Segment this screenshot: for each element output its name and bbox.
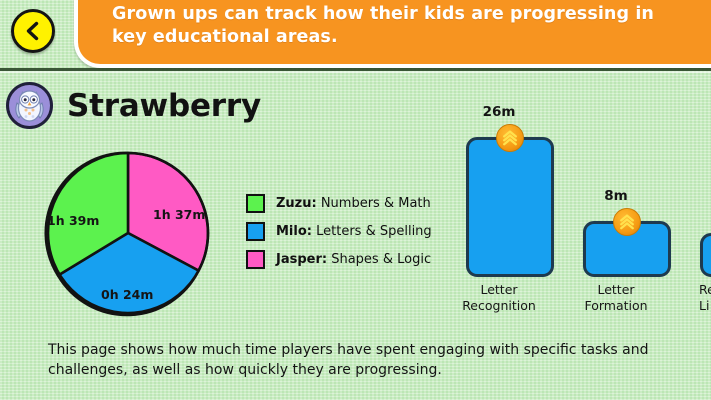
legend-label-milo: Milo: Letters & Spelling xyxy=(276,224,432,239)
bar-caption-line1-letter-recognition: Letter xyxy=(455,282,543,298)
footer-description: This page shows how much time players ha… xyxy=(48,340,668,381)
task-time-bar-chart: 26m Letter Recognition 8m xyxy=(455,100,711,330)
legend-topic-milo: Letters & Spelling xyxy=(312,224,432,239)
legend-topic-jasper: Shapes & Logic xyxy=(327,252,431,267)
legend-label-zuzu: Zuzu: Numbers & Math xyxy=(276,196,431,211)
header-divider-highlight xyxy=(0,71,711,73)
back-button[interactable] xyxy=(11,9,55,53)
legend-who-zuzu: Zuzu: xyxy=(276,196,317,211)
bar-caption-letter-formation: Letter Formation xyxy=(572,282,660,314)
pie-label-milo: 0h 24m xyxy=(101,287,153,302)
bar-caption-line2-letter-formation: Formation xyxy=(572,298,660,314)
legend-item-milo[interactable]: Milo: Letters & Spelling xyxy=(246,218,446,244)
header-banner: Grown ups can track how their kids are p… xyxy=(74,0,711,68)
bar-caption-line1-letter-formation: Letter xyxy=(572,282,660,298)
legend-item-zuzu[interactable]: Zuzu: Numbers & Math xyxy=(246,190,446,216)
legend-who-jasper: Jasper: xyxy=(276,252,327,267)
pie-label-zuzu: 1h 39m xyxy=(47,213,99,228)
header-banner-text: Grown ups can track how their kids are p… xyxy=(112,3,692,49)
legend-topic-zuzu: Numbers & Math xyxy=(317,196,431,211)
legend-swatch-zuzu xyxy=(246,194,265,213)
bar-column-reading-lists[interactable]: Re Li xyxy=(689,100,711,330)
legend-who-milo: Milo: xyxy=(276,224,312,239)
avatar xyxy=(6,82,53,129)
progress-report-screen: Grown ups can track how their kids are p… xyxy=(0,0,711,400)
bar-caption-reading-lists: Re Li xyxy=(699,282,711,314)
bar-value-letter-formation: 8m xyxy=(572,188,660,204)
bar-caption-letter-recognition: Letter Recognition xyxy=(455,282,543,314)
profile-name: Strawberry xyxy=(67,88,261,124)
bar-caption-line1-reading-lists: Re xyxy=(699,282,711,298)
time-distribution-pie-chart: 1h 39m 1h 37m 0h 24m xyxy=(38,148,218,318)
bar-column-letter-formation[interactable]: 8m Letter Formation xyxy=(572,100,660,330)
legend-swatch-milo xyxy=(246,222,265,241)
pie-legend: Zuzu: Numbers & Math Milo: Letters & Spe… xyxy=(246,190,446,274)
legend-item-jasper[interactable]: Jasper: Shapes & Logic xyxy=(246,246,446,272)
chevron-left-icon xyxy=(22,20,44,42)
bar-rect-reading-lists[interactable] xyxy=(700,233,711,277)
bar-caption-line2-letter-recognition: Recognition xyxy=(455,298,543,314)
legend-swatch-jasper xyxy=(246,250,265,269)
profile-header[interactable]: Strawberry xyxy=(6,82,261,129)
level-up-chevrons-icon-letter-formation[interactable] xyxy=(613,208,641,236)
level-up-chevrons-icon-letter-recognition[interactable] xyxy=(496,124,524,152)
bar-column-letter-recognition[interactable]: 26m Letter Recognition xyxy=(455,100,543,330)
bar-caption-line2-reading-lists: Li xyxy=(699,298,711,314)
pie-label-jasper: 1h 37m xyxy=(153,207,205,222)
legend-label-jasper: Jasper: Shapes & Logic xyxy=(276,252,431,267)
bar-value-letter-recognition: 26m xyxy=(455,104,543,120)
bar-rect-letter-recognition[interactable] xyxy=(466,137,554,277)
